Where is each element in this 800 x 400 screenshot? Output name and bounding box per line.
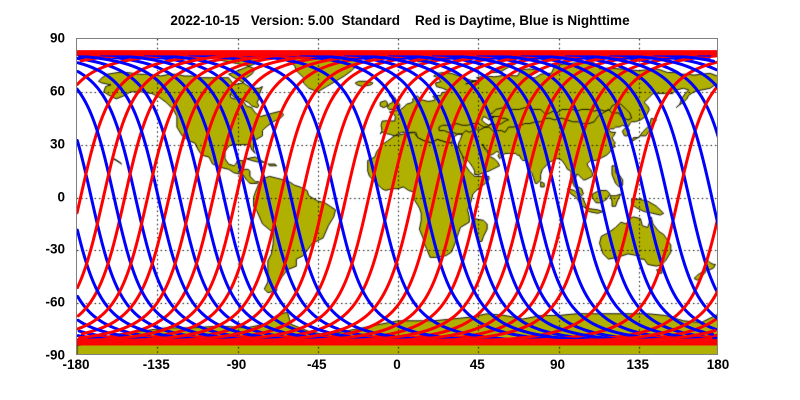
- plot-area: [76, 38, 718, 355]
- x-tick-label: 180: [707, 357, 730, 372]
- x-tick-label: -135: [143, 357, 170, 372]
- x-tick-label: 45: [470, 357, 485, 372]
- x-axis-labels: -180-135-90-4504590135180: [76, 357, 718, 377]
- x-tick-label: -90: [227, 357, 247, 372]
- ground-track-segment: [488, 86, 718, 340]
- y-axis-labels: 9060300-30-60-90: [0, 38, 71, 355]
- x-tick-label: -45: [307, 357, 327, 372]
- y-tick-label: 0: [57, 189, 65, 204]
- y-tick-label: 90: [50, 31, 65, 46]
- x-tick-label: 90: [550, 357, 565, 372]
- x-tick-label: 135: [626, 357, 649, 372]
- x-tick-label: 0: [393, 357, 401, 372]
- groundtrack-map-figure: 2022-10-15 Version: 5.00 Standard Red is…: [0, 0, 800, 400]
- ground-track-overlay: [77, 39, 718, 355]
- y-tick-label: -30: [45, 242, 65, 257]
- y-tick-label: -60: [45, 295, 65, 310]
- figure-title: 2022-10-15 Version: 5.00 Standard Red is…: [0, 13, 800, 28]
- y-tick-label: 30: [50, 136, 65, 151]
- y-tick-label: 60: [50, 83, 65, 98]
- x-tick-label: -180: [62, 357, 89, 372]
